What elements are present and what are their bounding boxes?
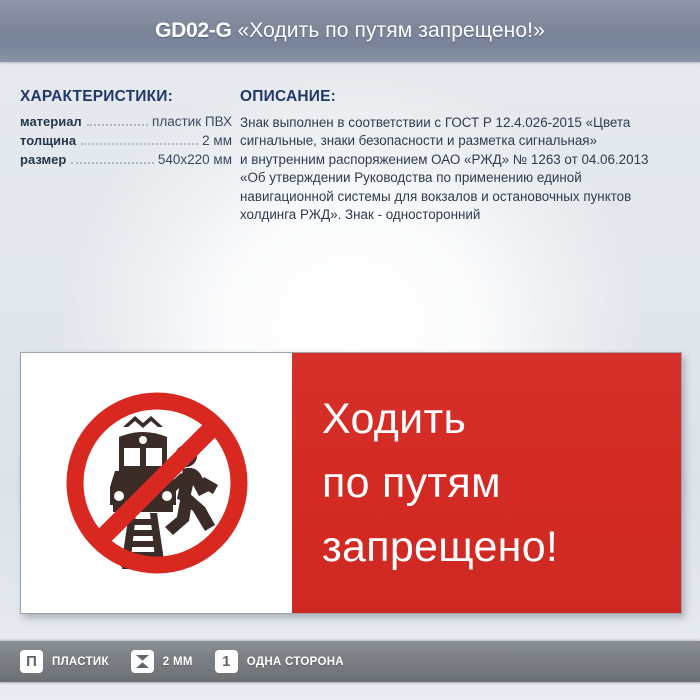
description-body: Знак выполнен в соответствии с ГОСТ Р 12… [240, 114, 688, 224]
thickness-icon-glyph [135, 654, 150, 669]
page-title: GD02-G «Ходить по путям запрещено!» [155, 19, 545, 43]
characteristic-row-material: материал пластик ПВХ [20, 114, 232, 130]
footer-label-sides: ОДНА СТОРОНА [247, 656, 344, 668]
characteristics-heading: ХАРАКТЕРИСТИКИ: [20, 88, 232, 106]
characteristic-value: пластик ПВХ [152, 114, 232, 129]
description-section: ОПИСАНИЕ: Знак выполнен в соответствии с… [240, 88, 688, 224]
header-bar: GD02-G «Ходить по путям запрещено!» [0, 0, 700, 62]
footer-label-material: ПЛАСТИК [52, 656, 109, 668]
product-code: GD02-G [155, 19, 231, 42]
dot-leader [71, 158, 154, 164]
product-card-page: GD02-G «Ходить по путям запрещено!» ХАРА… [0, 0, 700, 700]
one-side-icon-glyph: 1 [222, 654, 230, 669]
sign-pictogram-panel [21, 353, 292, 613]
sign-text-panel: Ходить по путям запрещено! [292, 353, 681, 613]
characteristic-value: 540х220 мм [158, 152, 232, 167]
characteristic-label: толщина [20, 133, 76, 148]
characteristic-value: 2 мм [202, 133, 232, 148]
characteristic-label: размер [20, 152, 66, 167]
one-side-icon: 1 [215, 650, 238, 673]
characteristic-label: материал [20, 114, 82, 129]
dot-leader [81, 139, 198, 145]
sign-text-line-3: запрещено! [322, 515, 681, 579]
footer-bar: П ПЛАСТИК 2 ММ 1 ОДНА СТОРОНА [0, 641, 700, 682]
plastic-icon-glyph: П [26, 654, 37, 669]
footer-item-material: П ПЛАСТИК [20, 650, 109, 673]
footer-item-thickness: 2 ММ [131, 650, 193, 673]
product-name: «Ходить по путям запрещено!» [237, 19, 544, 42]
description-heading: ОПИСАНИЕ: [240, 88, 688, 106]
characteristic-row-size: размер 540х220 мм [20, 152, 232, 168]
footer-label-thickness: 2 ММ [163, 656, 193, 668]
characteristics-section: ХАРАКТЕРИСТИКИ: материал пластик ПВХ тол… [20, 88, 232, 171]
footer-item-sides: 1 ОДНА СТОРОНА [215, 650, 344, 673]
sign-preview: Ходить по путям запрещено! [20, 352, 682, 614]
thickness-icon [131, 650, 154, 673]
characteristic-row-thickness: толщина 2 мм [20, 133, 232, 149]
plastic-icon: П [20, 650, 43, 673]
dot-leader [87, 120, 148, 126]
sign-text-line-2: по путям [322, 451, 681, 515]
sign-text-line-1: Ходить [322, 387, 681, 451]
no-walking-on-tracks-pictogram [57, 383, 257, 583]
